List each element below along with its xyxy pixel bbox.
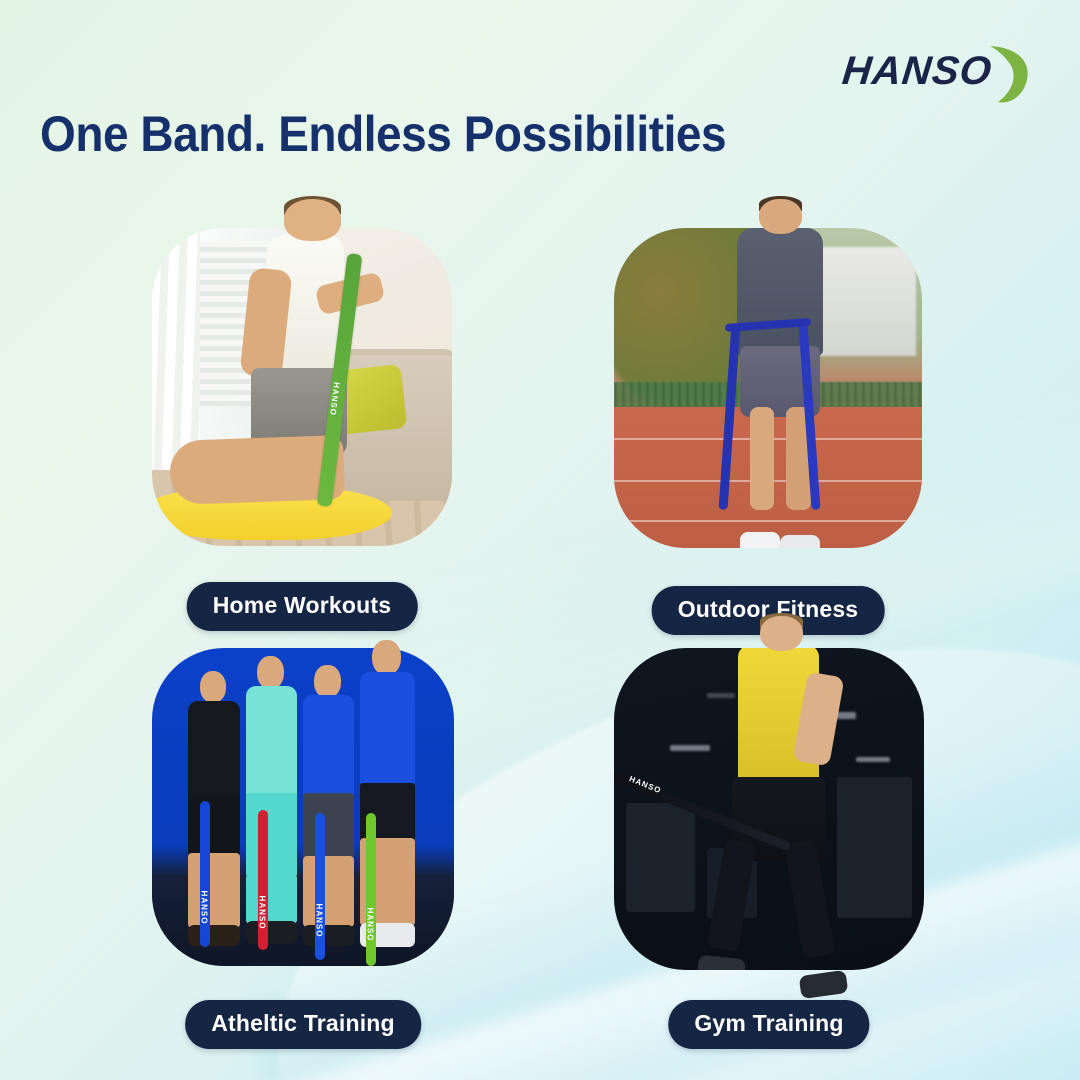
card-gym-training[interactable]: HANSO Gym Training [614,648,924,970]
photo-home-workouts: HANSO [152,228,452,546]
brand-logo: HANSO [838,38,1038,106]
poster-canvas: HANSO One Band. Endless Possibilities [0,0,1080,1080]
card-athletic-training[interactable]: HANSO HANSO [152,648,454,966]
logo-wordmark: HANSO [840,49,994,93]
photo-gym-training: HANSO [614,648,924,970]
svg-text:HANSO: HANSO [840,49,994,93]
photo-frame [614,228,922,548]
photo-athletic-training: HANSO HANSO [152,648,454,966]
card-home-workouts[interactable]: HANSO Home Workouts [152,228,452,546]
swoosh-icon [990,46,1028,102]
band-logo-text: HANSO [628,775,663,796]
photo-outdoor-fitness [614,228,922,548]
caption-home-workouts[interactable]: Home Workouts [187,582,418,631]
photo-frame [152,228,452,546]
caption-gym-training[interactable]: Gym Training [668,1000,869,1049]
caption-outdoor-fitness[interactable]: Outdoor Fitness [652,586,885,635]
photo-frame [152,648,454,966]
card-outdoor-fitness[interactable]: Outdoor Fitness [614,228,922,548]
photo-frame: HANSO [614,648,924,970]
caption-athletic-training[interactable]: Atheltic Training [185,1000,421,1049]
page-title: One Band. Endless Possibilities [40,108,726,161]
